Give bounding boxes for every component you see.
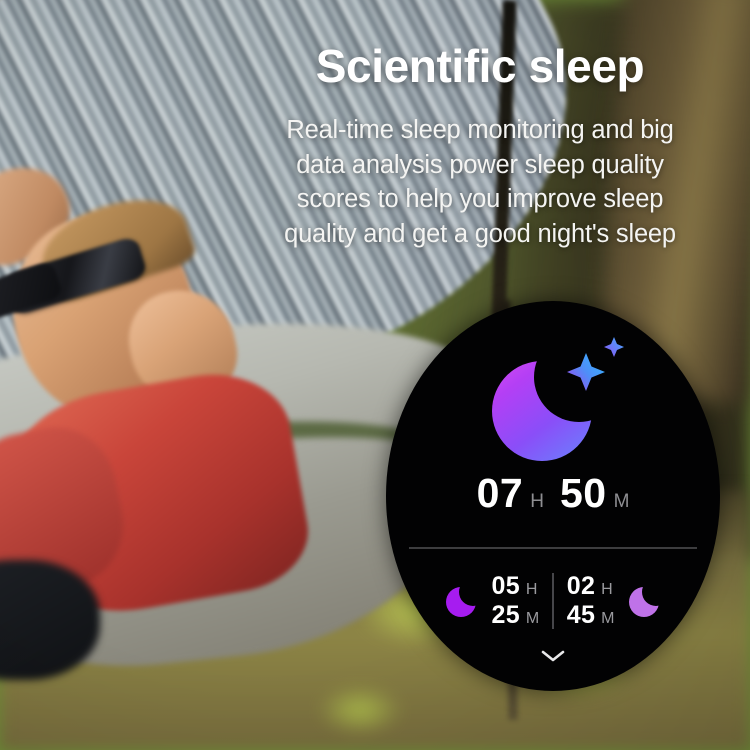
crescent-moon-with-sparkles-icon xyxy=(478,333,638,468)
marketing-copy: Scientific sleep Real-time sleep monitor… xyxy=(250,40,710,252)
deep-sleep-minutes-row: 25 M xyxy=(492,603,540,629)
light-sleep-hours-unit: H xyxy=(601,582,613,598)
total-minutes-unit: M xyxy=(614,492,630,511)
total-sleep-duration: 07 H 50 M xyxy=(386,473,720,514)
deep-sleep-minutes-unit: M xyxy=(526,611,539,627)
chevron-down-icon[interactable] xyxy=(540,649,566,663)
subtitle-line-3: scores to help you improve sleep xyxy=(250,182,710,217)
light-sleep-minutes-unit: M xyxy=(601,611,614,627)
page-subtitle: Real-time sleep monitoring and big data … xyxy=(250,113,710,252)
subtitle-line-4: quality and get a good night's sleep xyxy=(250,217,710,252)
total-minutes-value: 50 xyxy=(560,473,607,514)
sleep-stage-stats: 05 H 25 M xyxy=(386,573,720,629)
light-sleep-stat[interactable]: 02 H 45 M xyxy=(558,574,666,628)
light-sleep-minutes-row: 45 M xyxy=(567,603,615,629)
stat-separator xyxy=(552,573,554,629)
subtitle-line-2: data analysis power sleep quality xyxy=(250,148,710,183)
light-sleep-hours-value: 02 xyxy=(567,574,595,600)
smartwatch-screen[interactable]: 07 H 50 M xyxy=(386,301,720,691)
page-title: Scientific sleep xyxy=(250,40,710,93)
total-hours-unit: H xyxy=(530,492,544,511)
deep-sleep-stat[interactable]: 05 H 25 M xyxy=(441,574,549,628)
subtitle-line-1: Real-time sleep monitoring and big xyxy=(250,113,710,148)
light-sleep-moon-icon xyxy=(624,580,666,622)
deep-sleep-hours-unit: H xyxy=(526,582,538,598)
light-sleep-hours-row: 02 H xyxy=(567,574,615,600)
deep-sleep-hours-row: 05 H xyxy=(492,574,540,600)
deep-sleep-minutes-value: 25 xyxy=(492,603,520,629)
total-hours-value: 07 xyxy=(477,473,524,514)
deep-sleep-hours-value: 05 xyxy=(492,574,520,600)
divider xyxy=(409,547,697,549)
light-sleep-minutes-value: 45 xyxy=(567,603,595,629)
deep-sleep-moon-icon xyxy=(441,580,483,622)
